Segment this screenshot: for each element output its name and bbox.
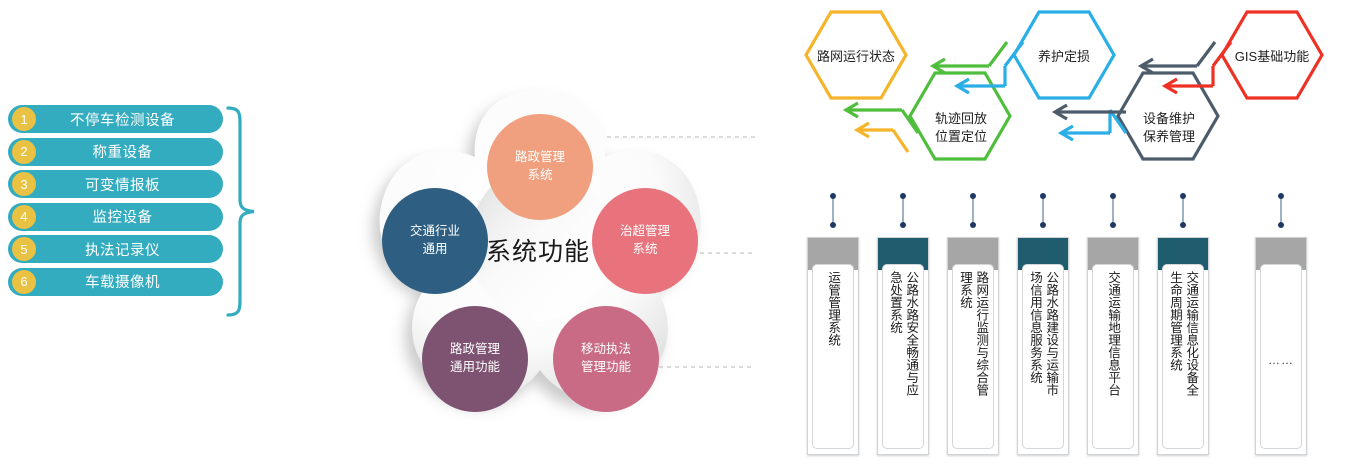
petal-left-lower[interactable]: 路政管理 通用功能: [422, 306, 528, 412]
connector-dot-bottom: [900, 222, 906, 228]
bar-label-column: 路网运行监测与综合管: [973, 271, 989, 396]
bar-body: ……: [1255, 237, 1307, 455]
petal-label-line2: 通用: [422, 242, 447, 256]
connector-dot-top: [1040, 193, 1046, 199]
hexagon-flow-chain: 轨迹回放 位置定位 设备维护 保养管理 路网运行状态 养护定损 GIS基础功能: [795, 0, 1350, 185]
bar-label-column: 运管管理系统: [825, 271, 841, 346]
petal-right-upper[interactable]: 治超管理 系统: [592, 188, 698, 294]
connector-dot-bottom: [1110, 222, 1116, 228]
connector-dot-top: [1110, 193, 1116, 199]
arrow-yellow-left: [857, 123, 908, 152]
system-bar[interactable]: 运管管理系统: [807, 193, 859, 458]
petal-label-line2: 系统: [527, 168, 552, 182]
petal-label-line2: 管理功能: [581, 359, 632, 374]
hexagon-label: 路网运行状态: [817, 49, 895, 64]
system-function-flower-diagram: 路政管理 系统 治超管理 系统 移动执法 管理功能 路政管理 通用功能 交通行业…: [325, 55, 755, 425]
bar-body: 生命周期管理系统 交通运输信息化设备全: [1157, 237, 1209, 455]
list-item-badge: 4: [12, 205, 36, 229]
bar-body: 急处置系统 公路水路安全畅通与应: [877, 237, 929, 455]
system-bar[interactable]: 急处置系统 公路水路安全畅通与应: [877, 193, 929, 458]
connector-line: [832, 195, 834, 225]
petal-label-line1: 治超管理: [620, 223, 671, 238]
bar-body: 运管管理系统: [807, 237, 859, 455]
petal-label-line1: 交通行业: [410, 223, 460, 238]
connector-dot-top: [970, 193, 976, 199]
connector-dot-bottom: [1180, 222, 1186, 228]
petal-left-upper[interactable]: 交通行业 通用: [382, 188, 488, 294]
hexagon-label-line2: 保养管理: [1143, 129, 1195, 144]
list-item-badge: 1: [12, 107, 36, 131]
connector-dot-top: [900, 193, 906, 199]
connector-dot-bottom: [970, 222, 976, 228]
bar-label-column: 理系统: [957, 271, 973, 309]
connector-dot-bottom: [830, 222, 836, 228]
hexagon-label-line1: 轨迹回放: [935, 111, 987, 126]
system-bar[interactable]: 理系统 路网运行监测与综合管: [947, 193, 999, 458]
bar-text-area: 生命周期管理系统 交通运输信息化设备全: [1162, 264, 1204, 449]
hexagon-label: GIS基础功能: [1235, 49, 1309, 64]
petal-label-line2: 系统: [632, 242, 657, 256]
bar-body: 交通运输地理信息平台: [1087, 237, 1139, 455]
bar-text-area: 场信用信息服务系统 公路水路建设与运输市: [1022, 264, 1064, 449]
curly-brace-icon: [224, 104, 264, 319]
bar-body: 场信用信息服务系统 公路水路建设与运输市: [1017, 237, 1069, 455]
hexagon-road-network-status[interactable]: 路网运行状态: [806, 12, 906, 98]
petal-label-line1: 移动执法: [581, 342, 631, 356]
connector-line: [902, 195, 904, 225]
system-bar[interactable]: ……: [1255, 193, 1307, 458]
system-bar[interactable]: 场信用信息服务系统 公路水路建设与运输市: [1017, 193, 1069, 458]
flower-center-label: 系统功能: [486, 238, 590, 266]
system-bars-strip: 运管管理系统 急处置系统 公路水路安全畅通与应 理系统 路网运行监测与综合管: [800, 193, 1350, 458]
system-bar[interactable]: 生命周期管理系统 交通运输信息化设备全: [1157, 193, 1209, 458]
bar-label-column: 交通运输信息化设备全: [1183, 271, 1199, 396]
bar-label-column: 公路水路建设与运输市: [1043, 271, 1059, 396]
list-item-badge: 3: [12, 172, 36, 196]
connector-line: [1182, 195, 1184, 225]
connector-line: [1042, 195, 1044, 225]
equipment-list: 1 不停车检测设备 2 称重设备 3 可变情报板 4 监控设备 5 执法记录仪 …: [8, 105, 223, 300]
arrow-green-up: [933, 42, 1007, 73]
list-item-badge: 6: [12, 270, 36, 294]
bar-text-area: 急处置系统 公路水路安全畅通与应: [882, 264, 924, 449]
bar-ellipsis: ……: [1268, 353, 1294, 367]
bar-label-column: 生命周期管理系统: [1167, 271, 1183, 371]
hexagon-gis-base[interactable]: GIS基础功能: [1222, 12, 1322, 98]
bar-label-column: 公路水路安全畅通与应: [903, 271, 919, 396]
system-bar[interactable]: 交通运输地理信息平台: [1087, 193, 1139, 458]
connector-line: [1112, 195, 1114, 225]
hexagon-label: 养护定损: [1038, 49, 1090, 64]
connector-dot-top: [1278, 193, 1284, 199]
connector-line: [1280, 195, 1282, 225]
arrow-blue-left-lower: [1061, 110, 1126, 140]
list-item-label: 不停车检测设备: [56, 109, 175, 130]
bar-body: 理系统 路网运行监测与综合管: [947, 237, 999, 455]
list-item[interactable]: 2 称重设备: [8, 138, 223, 166]
list-item-label: 车载摄像机: [71, 271, 160, 292]
list-item-badge: 5: [12, 237, 36, 261]
list-item[interactable]: 4 监控设备: [8, 203, 223, 231]
petal-top[interactable]: 路政管理 系统: [487, 114, 593, 220]
hexagon-maintenance-loss[interactable]: 养护定损: [1014, 12, 1114, 98]
list-item[interactable]: 3 可变情报板: [8, 170, 223, 198]
hexagon-label-line2: 位置定位: [935, 129, 987, 144]
petal-label-line2: 通用功能: [450, 360, 501, 374]
petal-label-line1: 路政管理: [515, 149, 566, 164]
list-item-label: 可变情报板: [71, 174, 160, 195]
bar-text-area: 交通运输地理信息平台: [1092, 264, 1134, 449]
connector-dot-bottom: [1040, 222, 1046, 228]
list-item[interactable]: 1 不停车检测设备: [8, 105, 223, 133]
bar-label-column: 交通运输地理信息平台: [1105, 271, 1121, 396]
petal-right-lower[interactable]: 移动执法 管理功能: [553, 306, 659, 412]
bar-text-area: 理系统 路网运行监测与综合管: [952, 264, 994, 449]
bar-label-column: 场信用信息服务系统: [1027, 271, 1043, 384]
hexagon-label-line1: 设备维护: [1143, 111, 1195, 126]
arrow-gray-up: [1141, 42, 1215, 73]
list-item-label: 监控设备: [79, 206, 153, 227]
petal-label-line1: 路政管理: [450, 341, 501, 356]
bar-text-area: 运管管理系统: [812, 264, 854, 449]
bar-label-column: 急处置系统: [887, 271, 903, 334]
connector-dot-top: [830, 193, 836, 199]
connector-line: [972, 195, 974, 225]
list-item[interactable]: 6 车载摄像机: [8, 268, 223, 296]
connector-dot-bottom: [1278, 222, 1284, 228]
list-item-badge: 2: [12, 140, 36, 164]
list-item-label: 执法记录仪: [71, 239, 160, 260]
list-item[interactable]: 5 执法记录仪: [8, 235, 223, 263]
list-item-label: 称重设备: [79, 141, 153, 162]
connector-dot-top: [1180, 193, 1186, 199]
bar-text-area: ……: [1260, 264, 1302, 449]
